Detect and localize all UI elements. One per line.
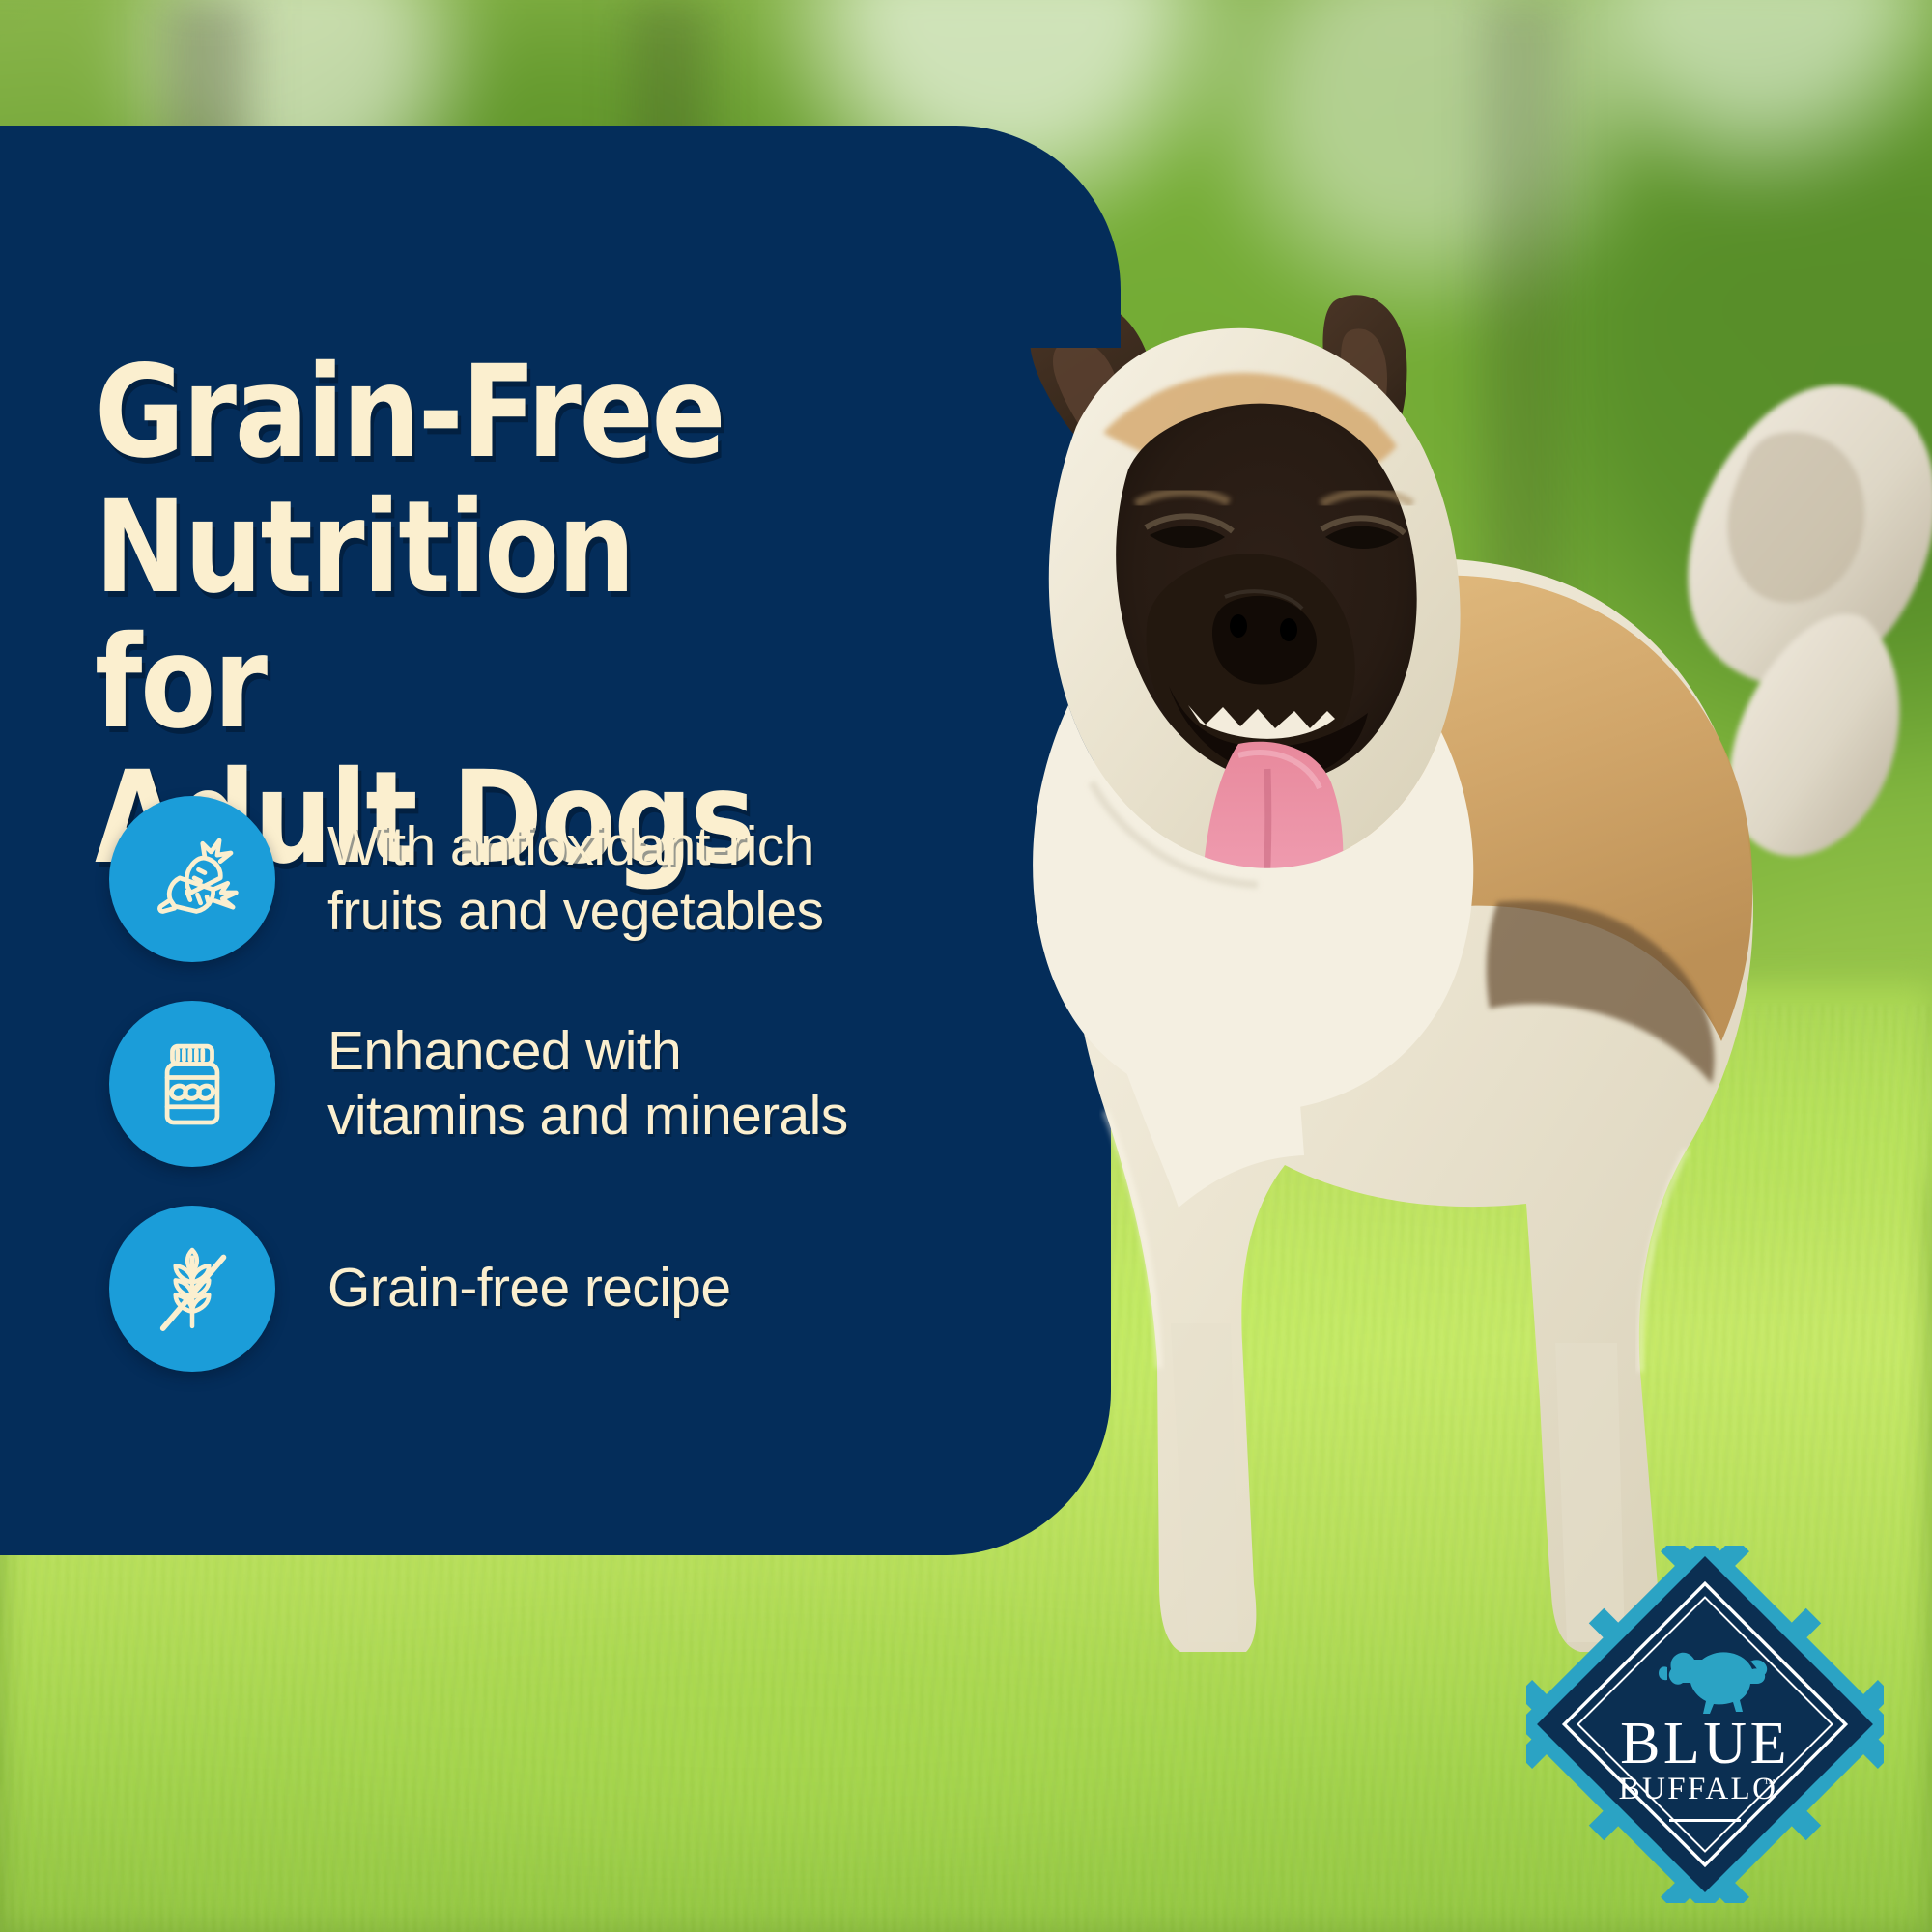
blue-buffalo-logo: BLUE BUFFALO ™: [1526, 1546, 1884, 1903]
feature-label: With antioxidant-rich fruits and vegetab…: [327, 814, 823, 945]
carrots-icon: [109, 796, 275, 962]
feature-label: Grain-free recipe: [327, 1256, 730, 1321]
supplement-bottle-icon: [109, 1001, 275, 1167]
logo-rule: [1669, 1819, 1741, 1822]
no-grain-icon: [109, 1206, 275, 1372]
advertisement-canvas: Grain-Free Nutrition for Adult Dogs With…: [0, 0, 1932, 1932]
logo-brand-primary: BLUE: [1620, 1711, 1790, 1776]
logo-brand-secondary: BUFFALO: [1619, 1772, 1778, 1806]
feature-item-grain-free: Grain-free recipe: [109, 1206, 979, 1372]
feature-label: Enhanced with vitamins and minerals: [327, 1019, 848, 1150]
feature-item-antioxidants: With antioxidant-rich fruits and vegetab…: [109, 796, 979, 962]
logo-trademark: ™: [1764, 1776, 1776, 1790]
feature-list: With antioxidant-rich fruits and vegetab…: [109, 796, 979, 1410]
feature-item-vitamins: Enhanced with vitamins and minerals: [109, 1001, 979, 1167]
